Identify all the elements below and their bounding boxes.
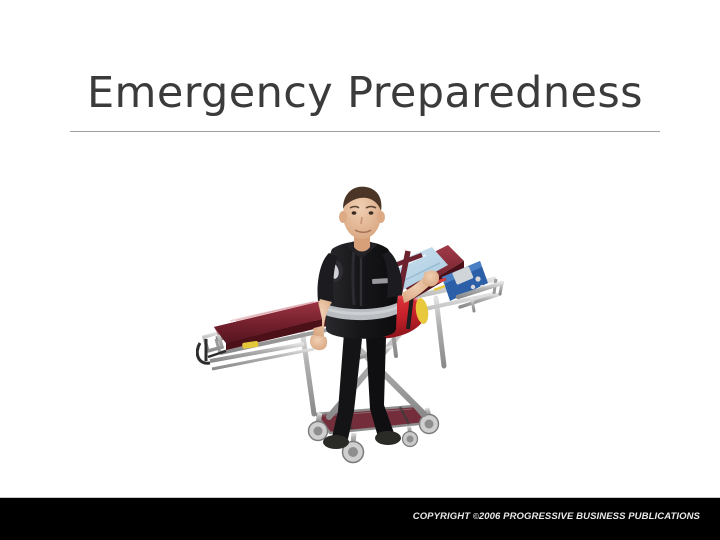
copyright-prefix-text: COPYRIGHT bbox=[413, 511, 473, 522]
slide-image-paramedic-stretcher[interactable] bbox=[196, 161, 516, 491]
copyright-owner-text: PROGRESSIVE BUSINESS PUBLICATIONS bbox=[500, 511, 700, 522]
footer-bar: COPYRIGHT ©2006 PROGRESSIVE BUSINESS PUB… bbox=[0, 498, 720, 540]
title-divider-rule bbox=[70, 131, 660, 132]
copyright-year-text: 2006 bbox=[479, 511, 501, 522]
copyright-notice: COPYRIGHT ©2006 PROGRESSIVE BUSINESS PUB… bbox=[413, 511, 700, 522]
presentation-slide: Emergency Preparedness bbox=[0, 0, 720, 540]
page-title: Emergency Preparedness bbox=[87, 72, 643, 115]
paramedic-stretcher-illustration bbox=[196, 161, 516, 491]
slide-title-placeholder[interactable]: Emergency Preparedness bbox=[70, 62, 660, 124]
